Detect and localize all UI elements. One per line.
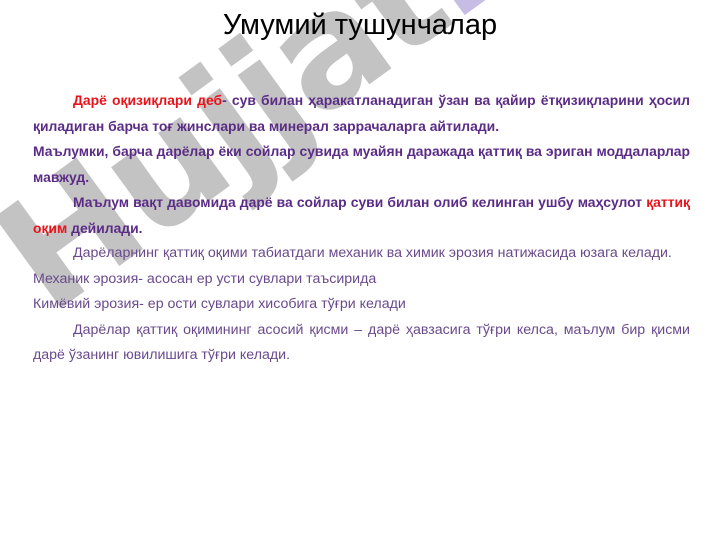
paragraph-3-tail: дейилади.	[67, 220, 142, 236]
paragraph-6: Кимёвий эрозия- ер ости сувлари хисобига…	[33, 292, 690, 318]
paragraph-3: Маълум вақт давомида дарё ва сойлар суви…	[33, 190, 690, 241]
slide-canvas: Hujjat24 Умумий тушунчалар Дарё оқизиқла…	[0, 0, 720, 540]
page-title: Умумий тушунчалар	[0, 9, 720, 42]
paragraph-7: Дарёлар қаттиқ оқимининг асосий қисми – …	[33, 318, 690, 369]
body-content: Дарё оқизиқлари деб- сув билан ҳаракатла…	[33, 88, 690, 369]
highlight-term-1: Дарё оқизиқлари деб	[73, 92, 222, 108]
paragraph-5: Механик эрозия- асосан ер усти сувлари т…	[33, 267, 690, 293]
paragraph-2: Маълумки, барча дарёлар ёки сойлар сувид…	[33, 139, 690, 190]
paragraph-1: Дарё оқизиқлари деб- сув билан ҳаракатла…	[33, 88, 690, 139]
paragraph-4: Дарёларнинг қаттиқ оқими табиатдаги меха…	[33, 241, 690, 267]
paragraph-3-lead: Маълум вақт давомида дарё ва сойлар суви…	[73, 194, 646, 210]
